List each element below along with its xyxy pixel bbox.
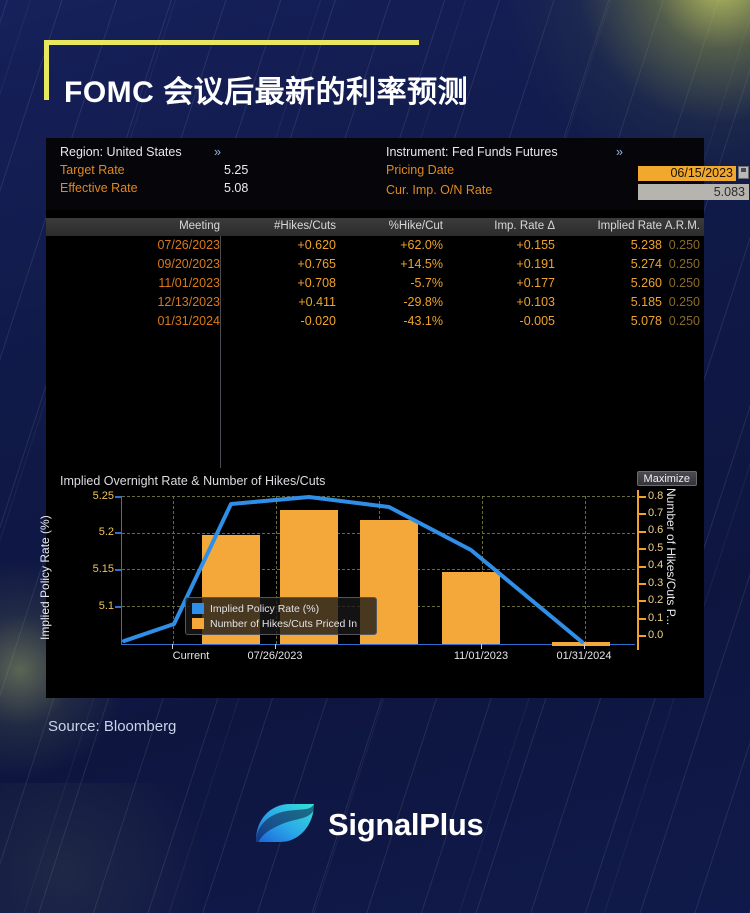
legend-swatch-hikes-cuts (192, 618, 204, 629)
y-axis-right-tick: 0.1 (648, 612, 663, 624)
y-axis-right-tick-mark (639, 566, 646, 568)
cell-hikes-cuts: +0.620 (221, 238, 336, 252)
signalplus-wave-logo-icon (252, 798, 318, 848)
y-axis-right-tick: 0.6 (648, 524, 663, 536)
x-axis-tick-mark (275, 644, 276, 649)
y-axis-right-tick-mark (639, 583, 646, 585)
table-row[interactable]: 11/01/2023 +0.708 -5.7% +0.177 5.260 0.2… (46, 274, 704, 293)
brand-name: SignalPlus (328, 807, 483, 843)
cell-meeting: 12/13/2023 (100, 295, 220, 309)
floppy-disk-icon[interactable] (738, 166, 749, 179)
implied-rate-chart: Implied Overnight Rate & Number of Hikes… (46, 468, 704, 698)
cell-arm: 0.250 (626, 314, 700, 328)
y-axis-left-tick: 5.25 (80, 490, 114, 502)
effective-rate-value: 5.08 (224, 181, 248, 195)
cell-imp-rate-delta: +0.103 (445, 295, 555, 309)
pricing-date-input[interactable]: 06/15/2023 (638, 166, 736, 181)
cell-pct-hike-cut: +14.5% (338, 257, 443, 271)
plot-area: Implied Policy Rate (%) Number of Hikes/… (121, 496, 635, 645)
cell-pct-hike-cut: -5.7% (338, 276, 443, 290)
legend-label-policy-rate: Implied Policy Rate (%) (210, 603, 319, 615)
legend-swatch-policy-rate (192, 603, 204, 614)
cell-imp-rate-delta: +0.155 (445, 238, 555, 252)
x-axis-label: 07/26/2023 (247, 650, 302, 662)
cell-meeting: 11/01/2023 (100, 276, 220, 290)
page-title: FOMC 会议后最新的利率预测 (64, 67, 468, 111)
cell-pct-hike-cut: -43.1% (338, 314, 443, 328)
cell-arm: 0.250 (626, 257, 700, 271)
column-header-meeting[interactable]: Meeting (100, 220, 220, 232)
y-axis-right-tick: 0.0 (648, 629, 663, 641)
y-axis-right-tick-mark (639, 635, 646, 637)
x-axis-tick-mark (584, 644, 585, 649)
cell-imp-rate-delta: +0.177 (445, 276, 555, 290)
y-axis-left-tick: 5.15 (80, 563, 114, 575)
x-axis-tick-mark (172, 644, 173, 649)
y-axis-right-title: Number of Hikes/Cuts P... (664, 488, 678, 658)
target-rate-label: Target Rate (60, 163, 125, 177)
glow-bottom-left (0, 783, 220, 913)
cell-hikes-cuts: +0.411 (221, 295, 336, 309)
pricing-date-label: Pricing Date (386, 163, 454, 177)
y-axis-right-tick: 0.4 (648, 559, 663, 571)
y-axis-right-tick-mark (639, 618, 646, 620)
cur-imp-rate-value: 5.083 (638, 184, 749, 200)
source-caption: Source: Bloomberg (48, 718, 176, 735)
column-header-hikes-cuts[interactable]: #Hikes/Cuts (221, 220, 336, 232)
y-axis-right-tick: 0.7 (648, 507, 663, 519)
effective-rate-label: Effective Rate (60, 181, 138, 195)
y-axis-right-tick: 0.3 (648, 577, 663, 589)
table-header-row: Meeting #Hikes/Cuts %Hike/Cut Imp. Rate … (46, 218, 704, 236)
table-row[interactable]: 09/20/2023 +0.765 +14.5% +0.191 5.274 0.… (46, 255, 704, 274)
rates-table: Meeting #Hikes/Cuts %Hike/Cut Imp. Rate … (46, 218, 704, 331)
cell-hikes-cuts: +0.765 (221, 257, 336, 271)
cell-meeting: 07/26/2023 (100, 238, 220, 252)
table-row[interactable]: 12/13/2023 +0.411 -29.8% +0.103 5.185 0.… (46, 293, 704, 312)
y-axis-left-title: Implied Policy Rate (%) (38, 480, 52, 640)
x-axis-tick-mark (481, 644, 482, 649)
y-axis-right-tick-mark (639, 548, 646, 550)
instrument-chevron-icon[interactable]: » (616, 145, 623, 159)
y-axis-right-tick: 0.8 (648, 490, 663, 502)
bloomberg-terminal-panel: Region: United States » Target Rate 5.25… (46, 138, 704, 698)
x-axis-label: Current (173, 650, 210, 662)
instrument-label[interactable]: Instrument: Fed Funds Futures (386, 145, 558, 159)
cell-hikes-cuts: -0.020 (221, 314, 336, 328)
chart-title: Implied Overnight Rate & Number of Hikes… (60, 474, 325, 488)
y-axis-right-tick: 0.2 (648, 594, 663, 606)
legend-label-hikes-cuts: Number of Hikes/Cuts Priced In (210, 618, 357, 630)
chart-legend: Implied Policy Rate (%) Number of Hikes/… (185, 597, 377, 635)
cell-hikes-cuts: +0.708 (221, 276, 336, 290)
x-axis-label: 01/31/2024 (556, 650, 611, 662)
column-header-arm[interactable]: A.R.M. (626, 220, 700, 232)
x-axis-label: 11/01/2023 (454, 650, 508, 662)
cell-pct-hike-cut: +62.0% (338, 238, 443, 252)
target-rate-value: 5.25 (224, 163, 248, 177)
y-axis-right-tick-mark (639, 513, 646, 515)
signalplus-logo: SignalPlus (252, 798, 502, 852)
y-axis-right-tick-mark (639, 531, 646, 533)
cur-imp-rate-label: Cur. Imp. O/N Rate (386, 183, 492, 197)
cell-meeting: 01/31/2024 (100, 314, 220, 328)
cell-arm: 0.250 (626, 238, 700, 252)
region-chevron-icon[interactable]: » (214, 145, 221, 159)
table-row[interactable]: 01/31/2024 -0.020 -43.1% -0.005 5.078 0.… (46, 312, 704, 331)
y-axis-right-tick-mark (639, 600, 646, 602)
region-label[interactable]: Region: United States (60, 145, 182, 159)
cell-imp-rate-delta: -0.005 (445, 314, 555, 328)
cell-pct-hike-cut: -29.8% (338, 295, 443, 309)
y-axis-left-tick: 5.1 (80, 600, 114, 612)
cell-meeting: 09/20/2023 (100, 257, 220, 271)
y-axis-right-tick: 0.5 (648, 542, 663, 554)
y-axis-right-tick-mark (639, 496, 646, 498)
header: FOMC 会议后最新的利率预测 (44, 40, 644, 112)
cell-imp-rate-delta: +0.191 (445, 257, 555, 271)
cell-arm: 0.250 (626, 276, 700, 290)
column-header-pct-hike-cut[interactable]: %Hike/Cut (338, 220, 443, 232)
cell-arm: 0.250 (626, 295, 700, 309)
maximize-button[interactable]: Maximize (637, 471, 697, 486)
column-header-imp-rate-delta[interactable]: Imp. Rate Δ (445, 220, 555, 232)
table-row[interactable]: 07/26/2023 +0.620 +62.0% +0.155 5.238 0.… (46, 236, 704, 255)
y-axis-left-tick: 5.2 (80, 526, 114, 538)
terminal-header: Region: United States » Target Rate 5.25… (46, 138, 704, 210)
